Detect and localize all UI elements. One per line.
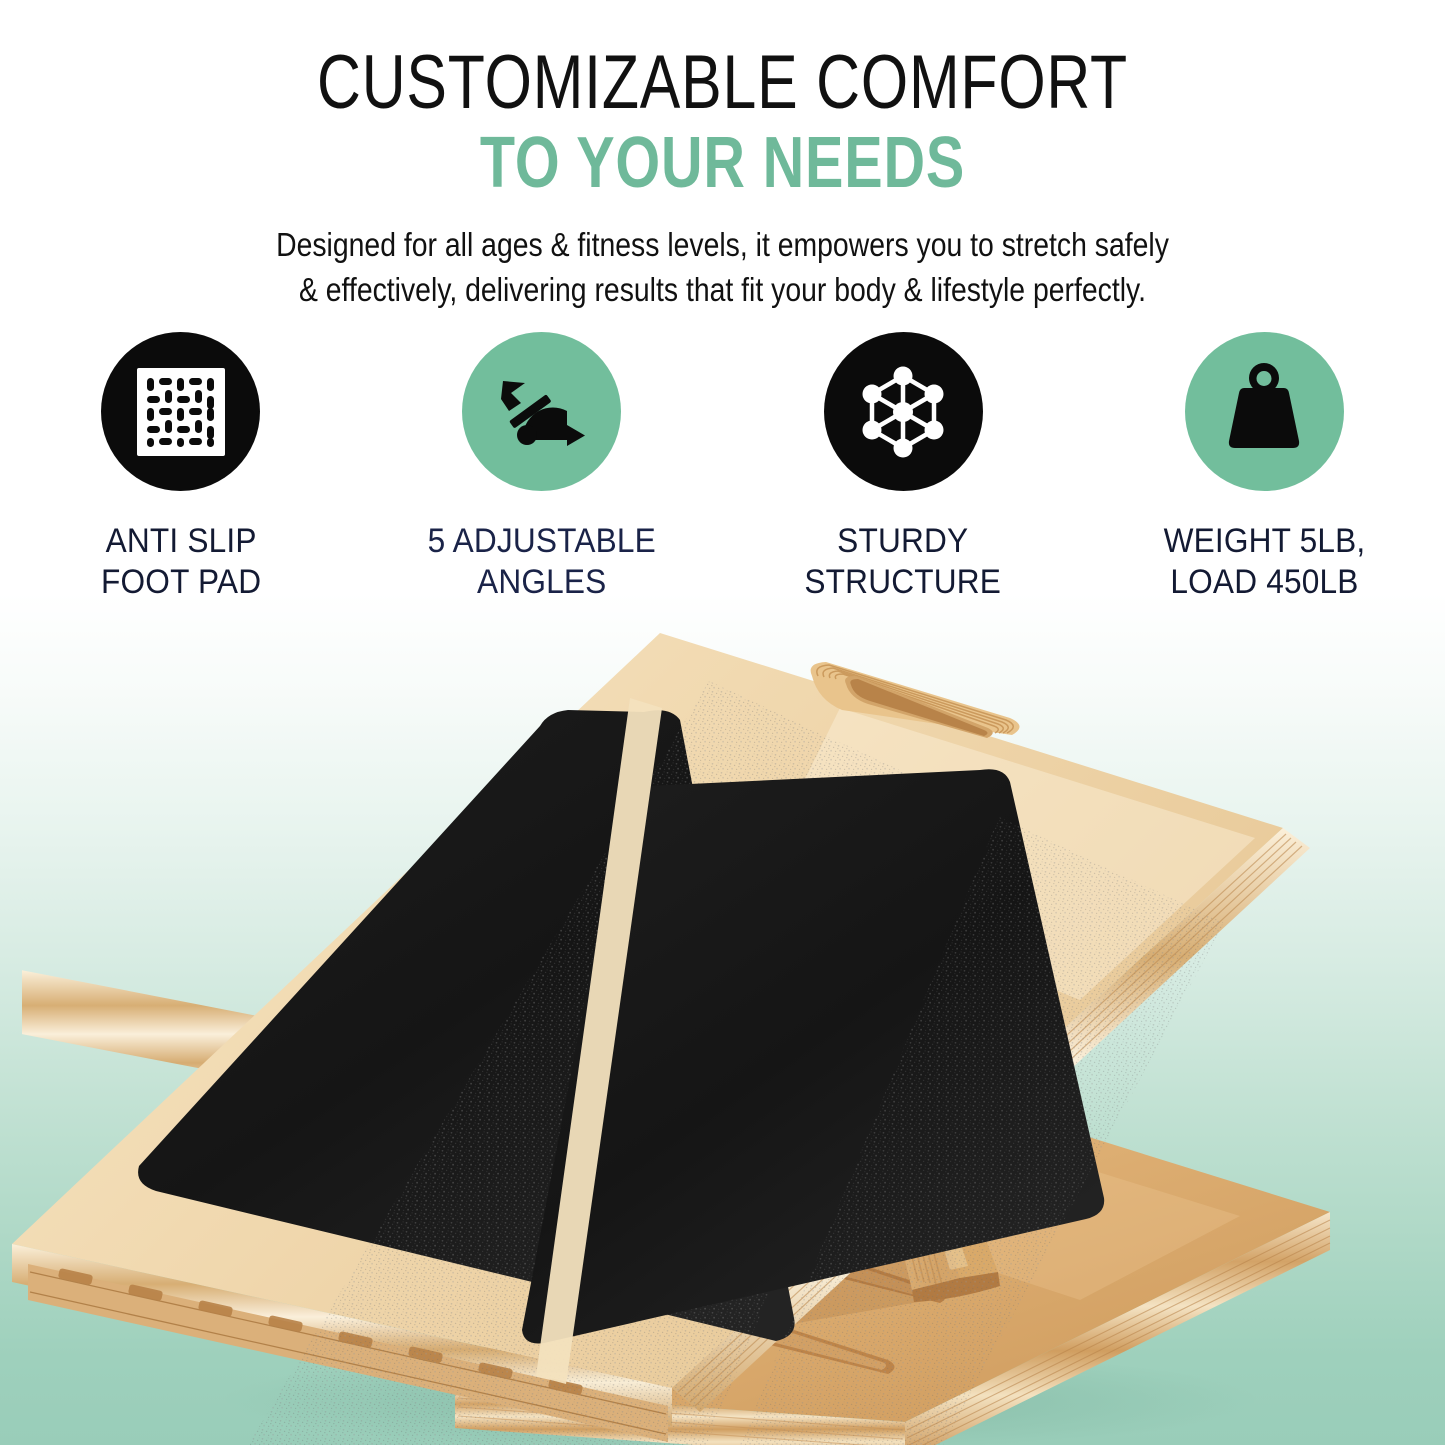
feature-label-line1: STURDY bbox=[838, 522, 969, 560]
adjustable-angle-icon-circle bbox=[462, 332, 621, 491]
molecular-structure-icon bbox=[853, 362, 953, 462]
feature-label-line2: LOAD 450LB bbox=[1170, 563, 1358, 601]
feature-label-line2: ANGLES bbox=[477, 563, 606, 601]
feature-label-line1: ANTI SLIP bbox=[105, 522, 256, 560]
feature-row: ANTI SLIP FOOT PAD bbox=[0, 332, 1445, 603]
headline-secondary: TO YOUR NEEDS bbox=[145, 126, 1301, 200]
feature-label-line1: 5 ADJUSTABLE bbox=[428, 522, 656, 560]
subhead-line-2: & effectively, delivering results that f… bbox=[101, 267, 1344, 312]
weight-icon-circle bbox=[1185, 332, 1344, 491]
adjustable-angle-icon bbox=[489, 359, 595, 465]
feature-sturdy-structure: STURDY STRUCTURE bbox=[723, 332, 1084, 603]
product-infographic: CUSTOMIZABLE COMFORT TO YOUR NEEDS Desig… bbox=[0, 0, 1445, 1445]
feature-label-line1: WEIGHT 5LB, bbox=[1163, 522, 1365, 560]
feature-label-line2: STRUCTURE bbox=[805, 563, 1002, 601]
feature-label-anti-slip: ANTI SLIP FOOT PAD bbox=[101, 521, 261, 603]
feature-anti-slip: ANTI SLIP FOOT PAD bbox=[0, 332, 361, 603]
weight-kettlebell-icon bbox=[1214, 362, 1314, 462]
slant-board-illustration bbox=[0, 600, 1445, 1445]
feature-weight-load: WEIGHT 5LB, LOAD 450LB bbox=[1084, 332, 1445, 603]
feature-label-sturdy-structure: STURDY STRUCTURE bbox=[805, 521, 1002, 603]
tilted-incline-board bbox=[0, 600, 1445, 1445]
subhead-line-1: Designed for all ages & fitness levels, … bbox=[101, 222, 1344, 267]
headline-primary: CUSTOMIZABLE COMFORT bbox=[145, 0, 1301, 122]
feature-adjustable-angles: 5 ADJUSTABLE ANGLES bbox=[361, 332, 722, 603]
product-image bbox=[0, 600, 1445, 1445]
header: CUSTOMIZABLE COMFORT TO YOUR NEEDS Desig… bbox=[0, 0, 1445, 312]
feature-label-adjustable-angles: 5 ADJUSTABLE ANGLES bbox=[428, 521, 656, 603]
anti-slip-grid-icon bbox=[137, 368, 225, 456]
feature-label-line2: FOOT PAD bbox=[101, 563, 261, 601]
sturdy-structure-icon-circle bbox=[824, 332, 983, 491]
feature-label-weight-load: WEIGHT 5LB, LOAD 450LB bbox=[1163, 521, 1365, 603]
anti-slip-icon-circle bbox=[101, 332, 260, 491]
